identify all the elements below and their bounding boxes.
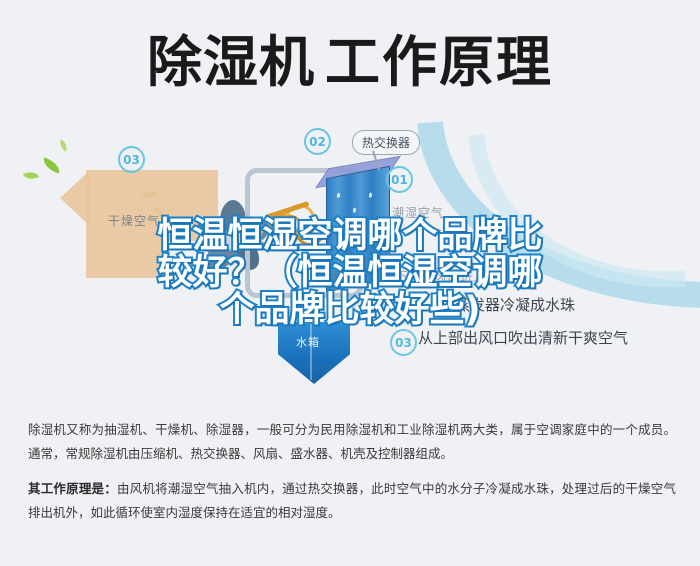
caption-evaporator: 蒸发器冷凝成水珠 — [455, 294, 575, 315]
paragraph-principle-lead: 其工作原理是： — [28, 481, 117, 496]
step-badge-01: 01 — [386, 166, 413, 193]
leaf-icon — [41, 157, 62, 173]
page-title-part1: 除湿机 — [147, 30, 315, 94]
water-droplet-icon — [343, 233, 346, 239]
caption-inlet: 潮湿空气从下部进风口进入 — [330, 266, 486, 285]
page-title: 除湿机工作原理 — [147, 35, 553, 90]
article-body: 除湿机又称为抽湿机、干燥机、除湿器，一般可分为民用除湿机和工业除湿机两大类，属于… — [28, 418, 676, 536]
paragraph-intro: 除湿机又称为抽湿机、干燥机、除湿器，一般可分为民用除湿机和工业除湿机两大类，属于… — [28, 418, 676, 467]
page-root: 除湿机工作原理 干燥空气 — [0, 0, 700, 566]
leaf-icon — [23, 169, 39, 183]
dehumidifier-diagram: 干燥空气 热交换器 — [0, 108, 700, 413]
leaf-icon — [57, 139, 70, 151]
page-header: 除湿机工作原理 — [0, 18, 700, 106]
page-title-part2: 工作原理 — [325, 30, 553, 94]
water-droplet-icon — [353, 207, 356, 213]
water-droplet-icon — [369, 192, 372, 198]
paragraph-principle: 其工作原理是：由风机将潮湿空气抽入机内，通过热交换器，此时空气中的水分子冷凝成水… — [28, 477, 676, 526]
water-droplet-icon — [337, 192, 340, 198]
dry-air-label: 干燥空气 — [108, 212, 160, 229]
step-badge-03-bottom: 03 — [390, 329, 417, 356]
humid-air-label: 潮湿空气 — [392, 204, 444, 221]
water-tank-label: 水箱 — [296, 334, 320, 350]
water-tank-highlight-icon — [310, 324, 312, 380]
step-badge-02: 02 — [304, 128, 331, 155]
caption-outlet: 从上部出风口吹出清新干爽空气 — [418, 327, 628, 348]
water-droplet-icon — [363, 245, 366, 251]
step-badge-03-left: 03 — [118, 146, 145, 173]
dry-air-arrow-tip-icon — [60, 170, 90, 226]
water-tank-icon — [278, 322, 350, 384]
heat-exchanger-callout: 热交换器 — [352, 130, 420, 155]
fan-hub-icon — [222, 228, 246, 252]
paragraph-principle-rest: 由风机将潮湿空气抽入机内，通过热交换器，此时空气中的水分子冷凝成水珠，处理过后的… — [28, 481, 676, 520]
water-droplet-icon — [377, 221, 380, 227]
